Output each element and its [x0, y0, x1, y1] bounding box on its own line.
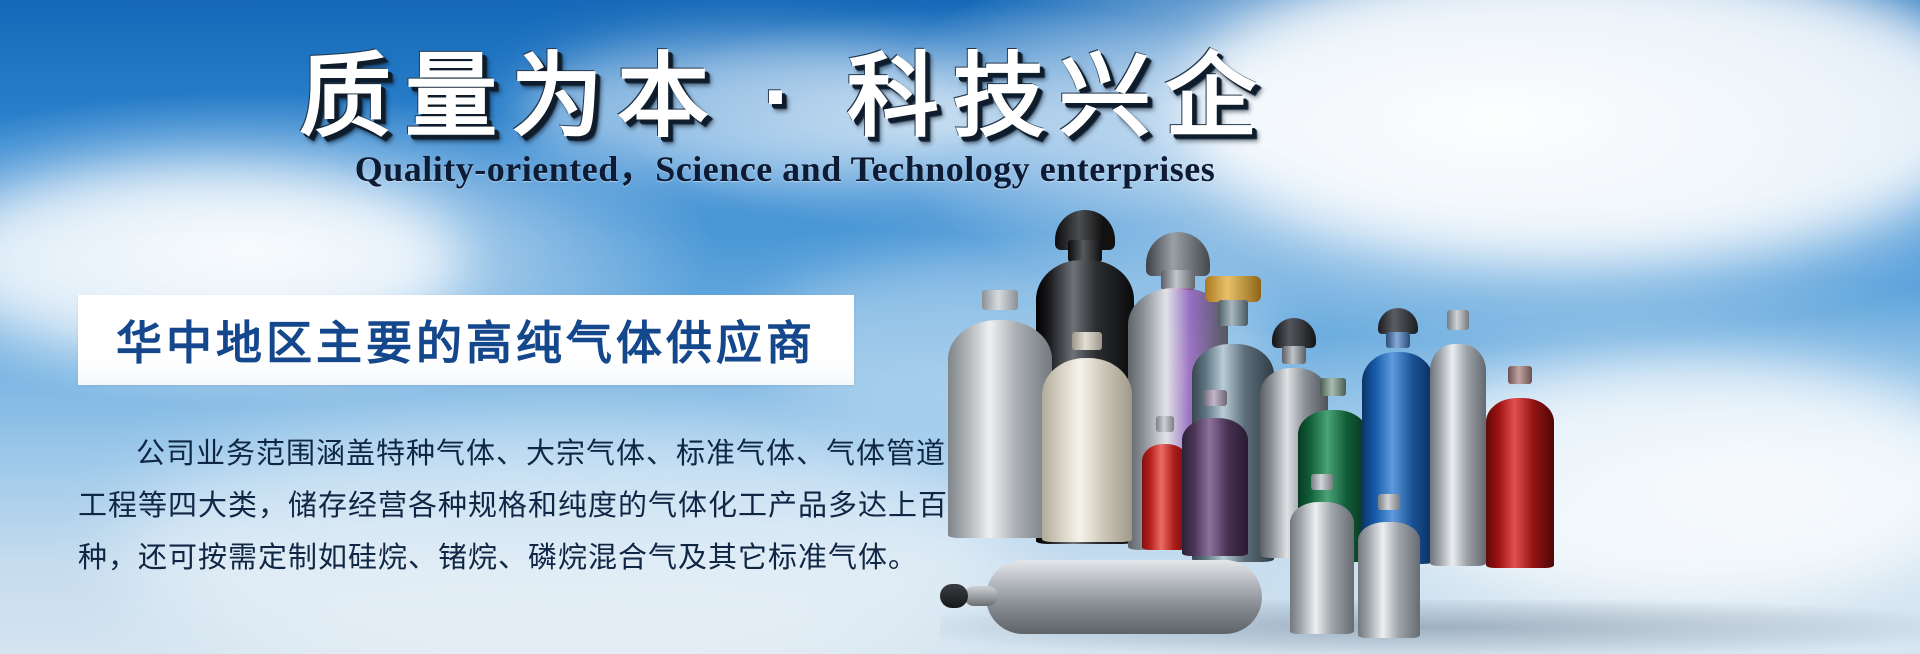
company-description-paragraph: 公司业务范围涵盖特种气体、大宗气体、标准气体、气体管道 工程等四大类，储存经营各… — [78, 428, 868, 584]
gas-cylinder-group — [930, 150, 1920, 654]
horizontal-cylinder — [986, 554, 1262, 640]
highlight-banner-text: 华中地区主要的高纯气体供应商 — [78, 307, 854, 373]
highlight-banner-box: 华中地区主要的高纯气体供应商 — [78, 295, 854, 385]
promo-banner: 质量为本 · 科技兴企 Quality-oriented，Science and… — [0, 0, 1920, 654]
cream-cylinder — [1042, 346, 1132, 542]
paragraph-line: 种，还可按需定制如硅烷、锗烷、磷烷混合气及其它标准气体。 — [78, 532, 868, 584]
dark-red-cylinder — [1486, 382, 1554, 568]
purple-cylinder — [1182, 404, 1248, 556]
white-tall-cylinder — [948, 306, 1052, 538]
paragraph-line: 公司业务范围涵盖特种气体、大宗气体、标准气体、气体管道 — [78, 428, 868, 480]
aluminium-cylinder — [1430, 328, 1486, 566]
paragraph-line: 工程等四大类，储存经营各种规格和纯度的气体化工产品多达上百 — [78, 480, 868, 532]
aluminium-short-cylinder — [1290, 488, 1354, 634]
banner-headline: 质量为本 · 科技兴企 — [0, 22, 1570, 155]
aluminium-short-cylinder — [1358, 508, 1420, 638]
